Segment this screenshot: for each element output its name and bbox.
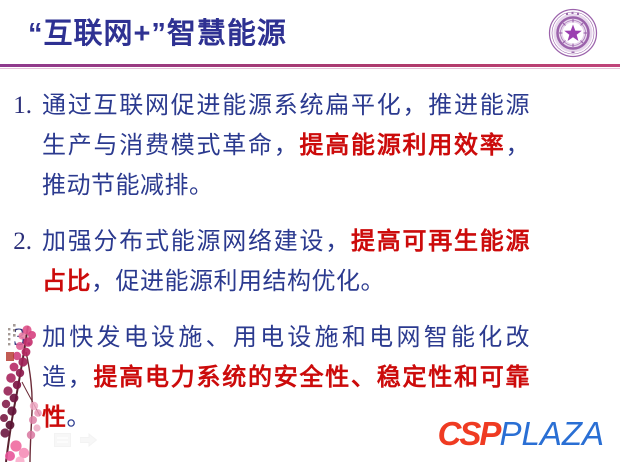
text-segment: 加强分布式能源网络建设，	[42, 229, 351, 255]
list-item-text: 加强分布式能源网络建设，提高可再生能源占比，促进能源利用结构优化。	[42, 222, 530, 302]
title-divider	[0, 64, 620, 67]
slide-body: 1. 通过互联网促进能源系统扁平化，推进能源生产与消费模式革命，提高能源利用效率…	[0, 86, 620, 454]
text-segment: 。	[67, 405, 92, 431]
list-item-text: 通过互联网促进能源系统扁平化，推进能源生产与消费模式革命，提高能源利用效率，推动…	[42, 86, 530, 206]
presentation-slide: “互联网+”智慧能源	[0, 0, 620, 462]
list-item-number: 1.	[0, 86, 42, 126]
right-arrow-icon[interactable]	[80, 433, 97, 452]
list-item: 1. 通过互联网促进能源系统扁平化，推进能源生产与消费模式革命，提高能源利用效率…	[0, 86, 620, 206]
text-segment-highlight: 提高能源利用效率	[300, 133, 506, 159]
text-segment: ，促进能源利用结构优化。	[91, 269, 385, 295]
csp-wordmark: CSP	[438, 417, 500, 450]
plaza-wordmark: PLAZA	[499, 417, 604, 450]
title-divider-secondary	[0, 68, 620, 69]
slide-header: “互联网+”智慧能源	[0, 0, 620, 68]
list-item-number: 2.	[0, 222, 42, 262]
list-item: 2. 加强分布式能源网络建设，提高可再生能源占比，促进能源利用结构优化。	[0, 222, 620, 302]
navigation-watermark-icons	[54, 433, 97, 452]
tsinghua-university-seal-icon	[548, 8, 598, 58]
list-item-number: 3.	[0, 318, 42, 358]
page-title: “互联网+”智慧能源	[28, 14, 287, 54]
page-icon[interactable]	[54, 433, 71, 452]
csp-plaza-watermark: CSP PLAZA	[438, 417, 604, 450]
